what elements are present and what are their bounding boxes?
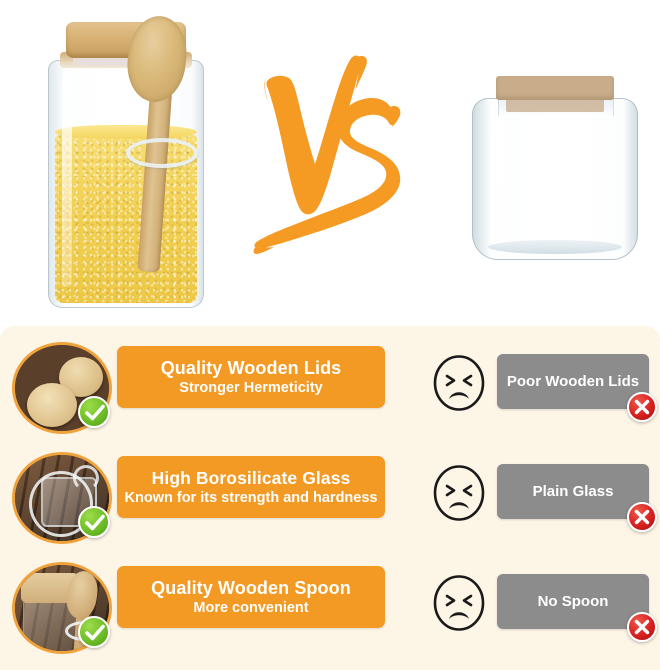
comparison-row: High Borosilicate Glass Known for its st…: [0, 444, 660, 554]
advantage-title: Quality Wooden Spoon: [151, 577, 351, 599]
glass-hook: [73, 465, 99, 491]
drawback-box: Poor Wooden Lids: [497, 354, 649, 409]
drawback-label: No Spoon: [538, 593, 609, 610]
plain-jar-highlight: [492, 122, 501, 242]
feature-comparison-panel: Quality Wooden Lids Stronger Hermeticity…: [0, 326, 660, 670]
glass-highlight: [62, 72, 72, 287]
versus-graphic: [252, 52, 412, 277]
drawback-label: Plain Glass: [533, 483, 614, 500]
drawback-box: Plain Glass: [497, 464, 649, 519]
advantage-banner: High Borosilicate Glass Known for its st…: [117, 456, 385, 518]
check-icon: [78, 506, 110, 538]
comparison-row: Quality Wooden Lids Stronger Hermeticity…: [0, 334, 660, 444]
drawback-label: Poor Wooden Lids: [507, 373, 639, 390]
sad-face-icon: [432, 574, 486, 632]
millet-surface: [55, 125, 197, 139]
check-icon: [78, 616, 110, 648]
comparison-row: Quality Wooden Spoon More convenient No …: [0, 554, 660, 664]
sad-face-icon: [432, 464, 486, 522]
spoon-holder-ring: [126, 138, 198, 168]
advantage-title: High Borosilicate Glass: [152, 467, 351, 489]
check-icon: [78, 396, 110, 428]
cross-icon: [627, 612, 657, 642]
drawback-box: No Spoon: [497, 574, 649, 629]
bamboo-lid-bottom: [27, 383, 77, 427]
cross-icon: [627, 392, 657, 422]
advantage-title: Quality Wooden Lids: [161, 357, 342, 379]
right-product-image: [458, 72, 648, 282]
hero-comparison-section: [0, 0, 660, 326]
sad-face-icon: [432, 354, 486, 412]
advantage-banner: Quality Wooden Lids Stronger Hermeticity: [117, 346, 385, 408]
advantage-subtitle: Known for its strength and hardness: [125, 489, 378, 508]
advantage-subtitle: Stronger Hermeticity: [179, 379, 322, 398]
cross-icon: [627, 502, 657, 532]
plain-jar-base: [488, 240, 622, 254]
plain-wooden-lid: [496, 76, 614, 100]
advantage-banner: Quality Wooden Spoon More convenient: [117, 566, 385, 628]
advantage-subtitle: More convenient: [193, 599, 308, 618]
plain-lid-underside: [506, 98, 604, 112]
left-product-image: [18, 12, 230, 312]
